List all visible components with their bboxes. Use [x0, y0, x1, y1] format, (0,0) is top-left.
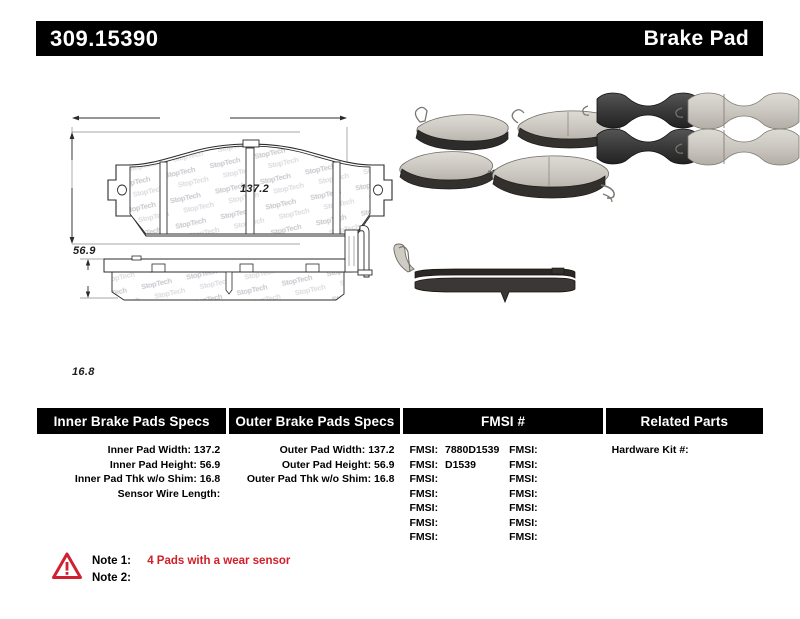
fmsi-row: FMSI:: [403, 530, 503, 545]
note-label: Note 2:: [92, 570, 140, 587]
warning-triangle-icon: [52, 552, 82, 579]
fmsi-label: FMSI:: [409, 473, 438, 485]
fmsi-label: FMSI:: [509, 531, 538, 543]
title-bar: 309.15390 Brake Pad: [36, 21, 763, 56]
fmsi-label: FMSI:: [409, 502, 438, 514]
dimension-label-width: 137.2: [240, 183, 269, 195]
spec-row: Outer Pad Thk w/o Shim: 16.8: [229, 472, 400, 487]
column-header-inner-specs: Inner Brake Pads Specs: [37, 408, 226, 434]
spec-label: Inner Pad Thk w/o Shim:: [75, 473, 197, 485]
four-pads-perspective-photo: [400, 107, 625, 202]
column-fmsi: FMSI # FMSI: 7880D1539 FMSI: D1539 FMSI:: [403, 408, 602, 545]
spec-label: Outer Pad Height:: [282, 459, 371, 471]
spec-row: Inner Pad Width: 137.2: [37, 443, 226, 458]
pads-top-down-photo: [583, 93, 799, 165]
fmsi-value: D1539: [441, 459, 476, 471]
column-header-related-parts: Related Parts: [606, 408, 763, 434]
spec-row: Outer Pad Height: 56.9: [229, 458, 400, 473]
fmsi-row: FMSI:: [503, 487, 603, 502]
notes-section: Note 1: 4 Pads with a wear sensor Note 2…: [52, 552, 290, 587]
fmsi-right-group: FMSI: FMSI: FMSI: FMSI: FMSI:: [503, 443, 603, 545]
fmsi-row: FMSI:: [403, 472, 503, 487]
column-header-fmsi: FMSI #: [403, 408, 602, 434]
spec-value: 137.2: [194, 444, 220, 456]
column-outer-specs: Outer Brake Pads Specs Outer Pad Width: …: [229, 408, 400, 545]
fmsi-row: FMSI:: [503, 530, 603, 545]
fmsi-row: FMSI:: [503, 516, 603, 531]
note-list: Note 1: 4 Pads with a wear sensor Note 2…: [92, 552, 290, 587]
fmsi-label: FMSI:: [409, 531, 438, 543]
fmsi-row: FMSI:: [503, 458, 603, 473]
spec-value: 56.9: [200, 459, 220, 471]
related-part-row: Hardware Kit #:: [612, 443, 763, 458]
spec-label: Inner Pad Width:: [108, 444, 191, 456]
side-view-drawing: [80, 226, 372, 300]
product-spec-sheet: 309.15390 Brake Pad StopTech StopTech: [0, 0, 800, 619]
fmsi-label: FMSI:: [509, 488, 538, 500]
column-body-inner-specs: Inner Pad Width: 137.2 Inner Pad Height:…: [37, 434, 226, 501]
spec-row: Inner Pad Height: 56.9: [37, 458, 226, 473]
fmsi-row: FMSI:: [503, 472, 603, 487]
spec-row: Outer Pad Width: 137.2: [229, 443, 400, 458]
fmsi-row: FMSI:: [403, 516, 503, 531]
spec-label: Inner Pad Height:: [110, 459, 197, 471]
dimension-label-height: 56.9: [73, 245, 96, 257]
fmsi-label: FMSI:: [509, 459, 538, 471]
note-value: [140, 572, 144, 584]
column-body-fmsi: FMSI: 7880D1539 FMSI: D1539 FMSI: FMSI:: [403, 434, 602, 545]
fmsi-left-group: FMSI: 7880D1539 FMSI: D1539 FMSI: FMSI:: [403, 443, 503, 545]
fmsi-label: FMSI:: [409, 488, 438, 500]
fmsi-label: FMSI:: [409, 517, 438, 529]
dimension-label-thickness: 16.8: [72, 366, 95, 378]
fmsi-label: FMSI:: [509, 444, 538, 456]
fmsi-row: FMSI: 7880D1539: [403, 443, 503, 458]
fmsi-row: FMSI:: [503, 501, 603, 516]
fmsi-value: 7880D1539: [441, 444, 499, 456]
column-body-outer-specs: Outer Pad Width: 137.2 Outer Pad Height:…: [229, 434, 400, 487]
note-item: Note 2:: [92, 570, 290, 587]
spec-value: 137.2: [368, 444, 394, 456]
spec-label: Outer Pad Width:: [280, 444, 366, 456]
fmsi-label: FMSI:: [409, 459, 438, 471]
fmsi-value: [438, 531, 442, 543]
spec-label: Outer Pad Thk w/o Shim:: [247, 473, 371, 485]
spec-row: Sensor Wire Length:: [37, 487, 226, 502]
note-item: Note 1: 4 Pads with a wear sensor: [92, 553, 290, 570]
fmsi-label: FMSI:: [509, 517, 538, 529]
fmsi-label: FMSI:: [509, 473, 538, 485]
fmsi-value: [438, 517, 442, 529]
drawings-area: StopTech StopTech: [0, 70, 800, 390]
spec-row: Inner Pad Thk w/o Shim: 16.8: [37, 472, 226, 487]
fmsi-row: FMSI: D1539: [403, 458, 503, 473]
column-inner-specs: Inner Brake Pads Specs Inner Pad Width: …: [37, 408, 226, 545]
product-category: Brake Pad: [644, 27, 749, 51]
fmsi-row: FMSI:: [403, 501, 503, 516]
note-value: 4 Pads with a wear sensor: [143, 555, 290, 567]
part-number: 309.15390: [50, 26, 159, 52]
column-body-related-parts: Hardware Kit #:: [606, 434, 763, 458]
related-part-label: Hardware Kit #:: [612, 444, 689, 456]
fmsi-value: [438, 488, 442, 500]
spec-value: 16.8: [200, 473, 220, 485]
fmsi-label: FMSI:: [409, 444, 438, 456]
fmsi-row: FMSI:: [503, 443, 603, 458]
column-related-parts: Related Parts Hardware Kit #:: [606, 408, 763, 545]
fmsi-row: FMSI:: [403, 487, 503, 502]
spec-label: Sensor Wire Length:: [118, 488, 221, 500]
fmsi-value: [438, 473, 442, 485]
specifications-table: Inner Brake Pads Specs Inner Pad Width: …: [37, 408, 763, 545]
spec-value: 16.8: [374, 473, 394, 485]
spec-value: 56.9: [374, 459, 394, 471]
technical-drawings-svg: StopTech StopTech: [0, 70, 800, 390]
front-view-drawing: [70, 116, 392, 244]
fmsi-label: FMSI:: [509, 502, 538, 514]
column-header-outer-specs: Outer Brake Pads Specs: [229, 408, 400, 434]
pad-side-profile-photo: [394, 244, 575, 302]
note-label: Note 1:: [92, 553, 140, 570]
fmsi-value: [438, 502, 442, 514]
